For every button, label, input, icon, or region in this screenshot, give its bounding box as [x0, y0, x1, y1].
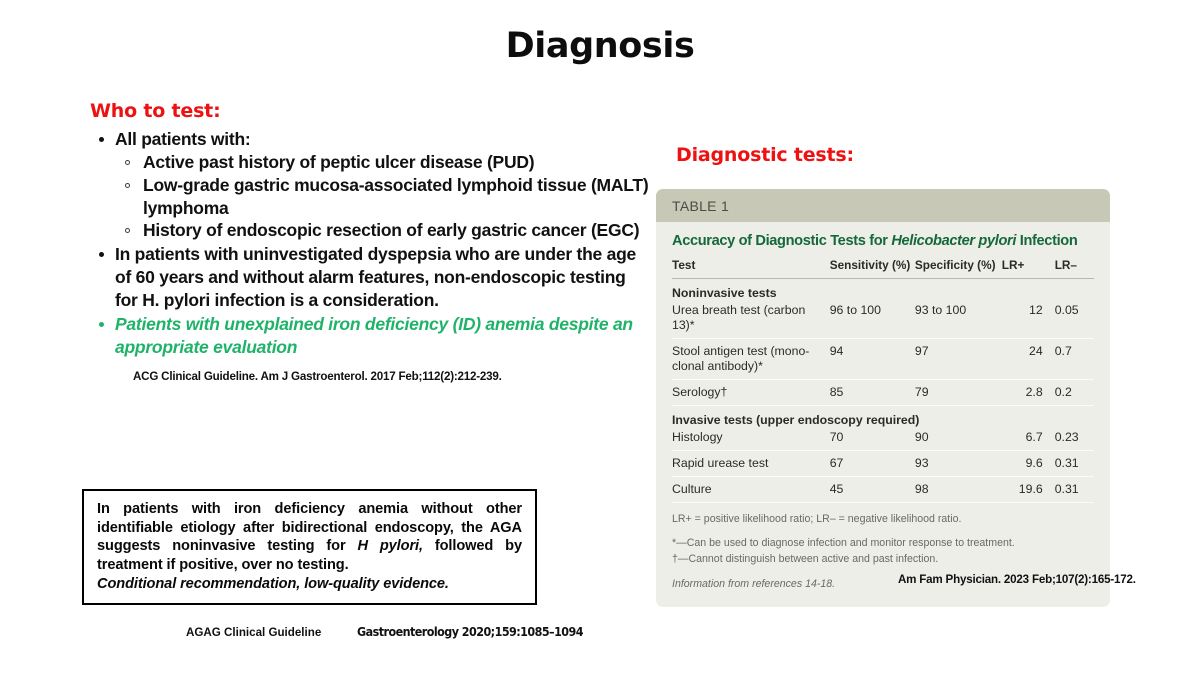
who-to-test-heading: Who to test:: [90, 100, 650, 122]
cell-lr-plus: 9.6: [1002, 451, 1055, 477]
cell-specificity: 90: [915, 428, 1002, 451]
left-content-column: Who to test: All patients with: Active p…: [90, 100, 650, 383]
footnote-lr-definition: LR+ = positive likelihood ratio; LR– = n…: [672, 512, 1094, 528]
aga-text-evidence-grade: Conditional recommendation, low-quality …: [97, 575, 522, 594]
list-item: All patients with: Active past history o…: [90, 128, 650, 242]
table-row: Urea breath test (carbon 13)* 96 to 100 …: [672, 301, 1094, 339]
table-body: Noninvasive tests Urea breath test (carb…: [672, 279, 1094, 503]
table-group-header: Invasive tests (upper endoscopy required…: [672, 406, 1094, 429]
table-title-suffix: Infection: [1016, 233, 1077, 249]
cell-specificity: 93: [915, 451, 1002, 477]
column-header-lr-plus: LR+: [1002, 258, 1055, 279]
cell-lr-plus: 6.7: [1002, 428, 1055, 451]
table-row: Rapid urease test 67 93 9.6 0.31: [672, 451, 1094, 477]
cell-lr-plus: 2.8: [1002, 380, 1055, 406]
afp-citation: Am Fam Physician. 2023 Feb;107(2):165-17…: [898, 573, 1136, 586]
list-item: Low-grade gastric mucosa-associated lymp…: [115, 174, 650, 220]
cell-sensitivity: 45: [830, 477, 915, 503]
cell-lr-minus: 0.23: [1055, 428, 1094, 451]
table-title-species: Helicobacter pylori: [891, 233, 1016, 249]
cell-test: Rapid urease test: [672, 451, 830, 477]
table-group-label: Noninvasive tests: [672, 279, 1094, 302]
table-header: Test Sensitivity (%) Specificity (%) LR+…: [672, 258, 1094, 279]
cell-sensitivity: 67: [830, 451, 915, 477]
table-row: Stool antigen test (mono-clonal antibody…: [672, 339, 1094, 380]
aga-source-label: AGAG Clinical Guideline: [186, 626, 321, 639]
table-group-header: Noninvasive tests: [672, 279, 1094, 302]
cell-test: Culture: [672, 477, 830, 503]
cell-lr-minus: 0.2: [1055, 380, 1094, 406]
list-item-label: Active past history of peptic ulcer dise…: [143, 152, 534, 172]
diagnostic-tests-heading: Diagnostic tests:: [676, 144, 854, 166]
table-body-container: Accuracy of Diagnostic Tests for Helicob…: [656, 222, 1110, 607]
cell-lr-plus: 12: [1002, 301, 1055, 339]
table-title-prefix: Accuracy of Diagnostic Tests for: [672, 233, 891, 249]
acg-citation: ACG Clinical Guideline. Am J Gastroenter…: [133, 370, 650, 383]
list-item-label: All patients with:: [115, 129, 251, 149]
cell-lr-minus: 0.7: [1055, 339, 1094, 380]
aga-recommendation-text: In patients with iron deficiency anemia …: [97, 500, 522, 593]
column-header-lr-minus: LR–: [1055, 258, 1094, 279]
cell-lr-minus: 0.31: [1055, 477, 1094, 503]
list-item-label: Low-grade gastric mucosa-associated lymp…: [143, 175, 648, 218]
table-header-row: Test Sensitivity (%) Specificity (%) LR+…: [672, 258, 1094, 279]
list-item: History of endoscopic resection of early…: [115, 219, 650, 242]
footnote-dagger: †—Cannot distinguish between active and …: [672, 552, 1094, 568]
list-item-label: History of endoscopic resection of early…: [143, 220, 639, 240]
cell-test: Stool antigen test (mono-clonal antibody…: [672, 339, 830, 380]
column-header-test: Test: [672, 258, 830, 279]
table-row: Serology† 85 79 2.8 0.2: [672, 380, 1094, 406]
cell-specificity: 97: [915, 339, 1002, 380]
cell-test: Serology†: [672, 380, 830, 406]
list-item: In patients with uninvestigated dyspepsi…: [90, 243, 650, 312]
list-item-label: In patients with uninvestigated dyspepsi…: [115, 244, 636, 310]
cell-sensitivity: 96 to 100: [830, 301, 915, 339]
table-group-label: Invasive tests (upper endoscopy required…: [672, 406, 1094, 429]
who-to-test-list: All patients with: Active past history o…: [90, 128, 650, 360]
table-row: Culture 45 98 19.6 0.31: [672, 477, 1094, 503]
cell-lr-plus: 24: [1002, 339, 1055, 380]
who-to-test-sublist: Active past history of peptic ulcer dise…: [115, 151, 650, 242]
page-title: Diagnosis: [0, 26, 1200, 66]
list-item-highlighted: Patients with unexplained iron deficienc…: [90, 313, 650, 359]
cell-lr-minus: 0.31: [1055, 451, 1094, 477]
accuracy-table: Test Sensitivity (%) Specificity (%) LR+…: [672, 258, 1094, 503]
column-header-sensitivity: Sensitivity (%): [830, 258, 915, 279]
cell-specificity: 79: [915, 380, 1002, 406]
cell-lr-plus: 19.6: [1002, 477, 1055, 503]
aga-text-italic-term: H pylori,: [357, 538, 422, 554]
aga-citation-row: AGAG Clinical Guideline Gastroenterology…: [186, 624, 626, 639]
table-number-label: TABLE 1: [656, 189, 1110, 222]
table-row: Histology 70 90 6.7 0.23: [672, 428, 1094, 451]
aga-recommendation-box: In patients with iron deficiency anemia …: [82, 489, 537, 605]
cell-sensitivity: 94: [830, 339, 915, 380]
list-item: Active past history of peptic ulcer dise…: [115, 151, 650, 174]
cell-test: Urea breath test (carbon 13)*: [672, 301, 830, 339]
list-item-label: Patients with unexplained iron deficienc…: [115, 314, 633, 357]
diagnostic-tests-table-panel: TABLE 1 Accuracy of Diagnostic Tests for…: [656, 189, 1110, 607]
column-header-specificity: Specificity (%): [915, 258, 1002, 279]
cell-sensitivity: 85: [830, 380, 915, 406]
footnote-asterisk: *—Can be used to diagnose infection and …: [672, 536, 1094, 552]
cell-specificity: 98: [915, 477, 1002, 503]
table-title: Accuracy of Diagnostic Tests for Helicob…: [672, 233, 1094, 249]
cell-test: Histology: [672, 428, 830, 451]
aga-source-journal: Gastroenterology 2020;159:1085–1094: [357, 624, 583, 639]
cell-sensitivity: 70: [830, 428, 915, 451]
cell-lr-minus: 0.05: [1055, 301, 1094, 339]
cell-specificity: 93 to 100: [915, 301, 1002, 339]
